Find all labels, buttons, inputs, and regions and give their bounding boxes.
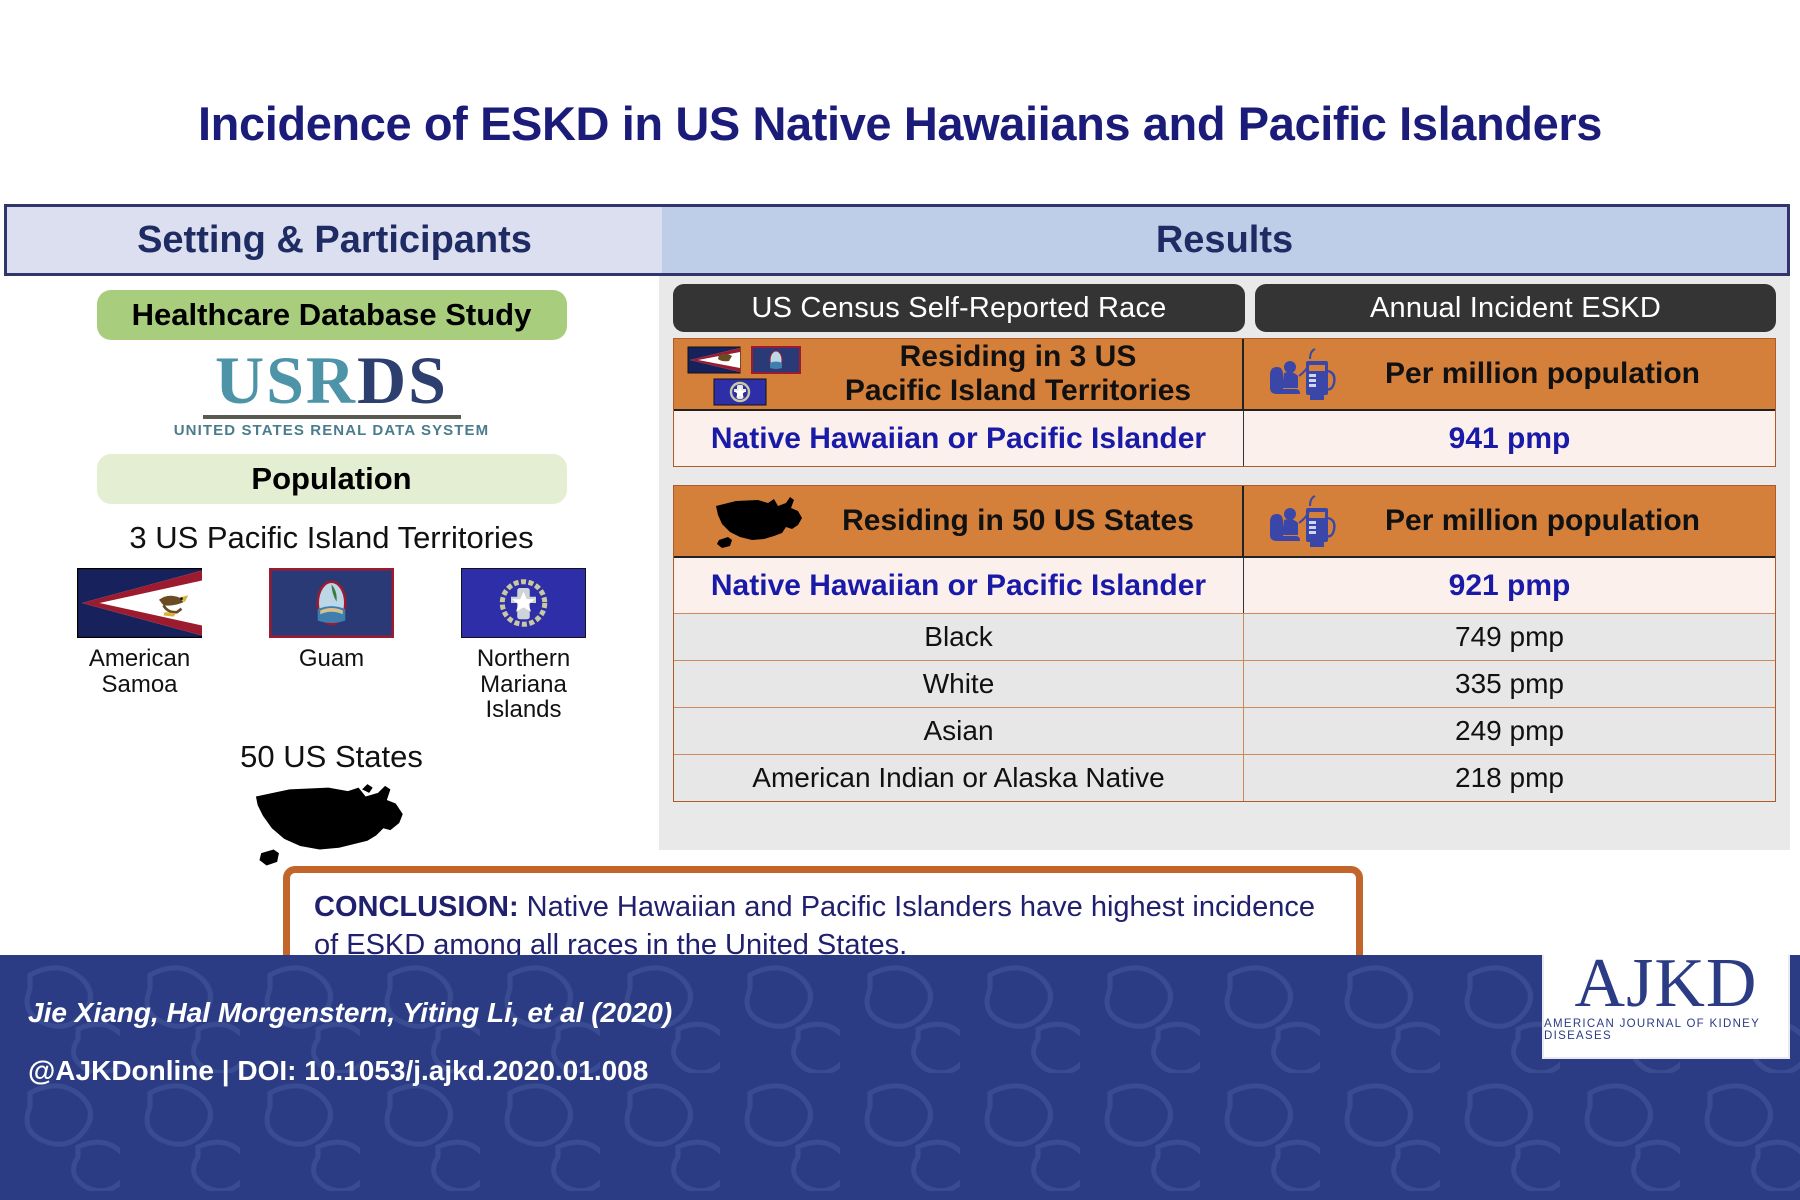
page-title: Incidence of ESKD in US Native Hawaiians… xyxy=(0,96,1800,151)
race-cell: American Indian or Alaska Native xyxy=(674,754,1244,801)
setting-participants-panel: Healthcare Database Study USRDS UNITED S… xyxy=(4,276,659,850)
study-type-pill: Healthcare Database Study xyxy=(97,290,567,340)
results-panel: US Census Self-Reported Race Annual Inci… xyxy=(659,276,1790,850)
value-cell: 921 pmp xyxy=(1244,558,1775,613)
american-samoa-flag-icon xyxy=(77,568,202,638)
territory-label: Guam xyxy=(262,646,402,672)
citation-authors: Jie Xiang, Hal Morgenstern, Yiting Li, e… xyxy=(28,997,672,1029)
band-label-cell-territories: Residing in 3 US Pacific Island Territor… xyxy=(674,339,1244,411)
northern-mariana-islands-flag-icon xyxy=(461,568,586,638)
table-row: Native Hawaiian or Pacific Islander 941 … xyxy=(674,411,1775,466)
table-row: Black 749 pmp xyxy=(674,613,1775,660)
conclusion-label: CONCLUSION: xyxy=(314,891,519,923)
group-spacer xyxy=(659,467,1790,479)
usrds-logo: USRDS UNITED STATES RENAL DATA SYSTEM xyxy=(97,348,567,439)
dialysis-chair-icon xyxy=(1266,345,1340,405)
three-territory-flags-icon xyxy=(686,345,816,407)
results-label: Results xyxy=(1156,219,1293,262)
results-group-states: Residing in 50 US States xyxy=(673,485,1776,802)
ajkd-logo-subtitle: AMERICAN JOURNAL OF KIDNEY DISEASES xyxy=(1544,1018,1788,1042)
setting-participants-header: Setting & Participants xyxy=(7,207,662,273)
territory-label: Northern Mariana Islands xyxy=(454,646,594,724)
race-cell: White xyxy=(674,660,1244,707)
race-cell: Native Hawaiian or Pacific Islander xyxy=(674,558,1244,613)
usrds-full-name: UNITED STATES RENAL DATA SYSTEM xyxy=(97,422,567,439)
group-band-territories: Residing in 3 US Pacific Island Territor… xyxy=(674,339,1775,411)
usa-map-silhouette-icon xyxy=(242,777,422,869)
states-heading: 50 US States xyxy=(4,739,659,775)
population-pill: Population xyxy=(97,454,567,504)
results-group-territories: Residing in 3 US Pacific Island Territor… xyxy=(673,338,1776,467)
footer: Jie Xiang, Hal Morgenstern, Yiting Li, e… xyxy=(0,955,1800,1200)
table-row: White 335 pmp xyxy=(674,660,1775,707)
race-cell: Black xyxy=(674,613,1244,660)
band-metric-cell-territories: Per million population xyxy=(1244,339,1775,411)
band-metric-label: Per million population xyxy=(1385,357,1700,391)
panel-header-band: Setting & Participants Results xyxy=(4,204,1790,276)
value-cell: 335 pmp xyxy=(1244,660,1775,707)
results-column-headers: US Census Self-Reported Race Annual Inci… xyxy=(659,276,1790,332)
territory-label: American Samoa xyxy=(70,646,210,698)
band-label-line1: Residing in 50 US States xyxy=(842,504,1194,537)
race-cell: Asian xyxy=(674,707,1244,754)
race-cell: Native Hawaiian or Pacific Islander xyxy=(674,411,1244,466)
value-cell: 749 pmp xyxy=(1244,613,1775,660)
band-metric-label: Per million population xyxy=(1385,504,1700,538)
ajkd-logo-main: AJKD xyxy=(1575,955,1758,1016)
guam-flag-icon xyxy=(269,568,394,638)
value-cell: 249 pmp xyxy=(1244,707,1775,754)
band-label-cell-states: Residing in 50 US States xyxy=(674,486,1244,558)
ajkd-logo: AJKD AMERICAN JOURNAL OF KIDNEY DISEASES xyxy=(1542,955,1790,1059)
value-cell: 941 pmp xyxy=(1244,411,1775,466)
table-row: American Indian or Alaska Native 218 pmp xyxy=(674,754,1775,801)
usa-map-silhouette-icon xyxy=(710,494,804,548)
territory-item-american-samoa: American Samoa xyxy=(70,568,210,724)
table-row: Native Hawaiian or Pacific Islander 921 … xyxy=(674,558,1775,613)
territory-item-guam: Guam xyxy=(262,568,402,724)
dialysis-chair-icon xyxy=(1266,492,1340,552)
band-label-line2: Pacific Island Territories xyxy=(845,374,1191,407)
territories-heading: 3 US Pacific Island Territories xyxy=(4,520,659,556)
usrds-acronym-teal: USR xyxy=(215,342,357,418)
band-label-line1: Residing in 3 US xyxy=(900,340,1137,373)
column-header-race: US Census Self-Reported Race xyxy=(673,284,1245,332)
results-header: Results xyxy=(662,207,1787,273)
territory-flag-list: American Samoa Guam Northern Mariana Isl… xyxy=(4,568,659,724)
group-band-states: Residing in 50 US States xyxy=(674,486,1775,558)
usrds-acronym: USRDS xyxy=(97,348,567,413)
table-row: Asian 249 pmp xyxy=(674,707,1775,754)
usrds-acronym-dark: DS xyxy=(357,342,448,418)
citation-doi: @AJKDonline | DOI: 10.1053/j.ajkd.2020.0… xyxy=(28,1055,648,1087)
column-header-incidence: Annual Incident ESKD xyxy=(1255,284,1776,332)
band-metric-cell-states: Per million population xyxy=(1244,486,1775,558)
territory-item-northern-mariana-islands: Northern Mariana Islands xyxy=(454,568,594,724)
setting-participants-label: Setting & Participants xyxy=(137,219,532,262)
value-cell: 218 pmp xyxy=(1244,754,1775,801)
